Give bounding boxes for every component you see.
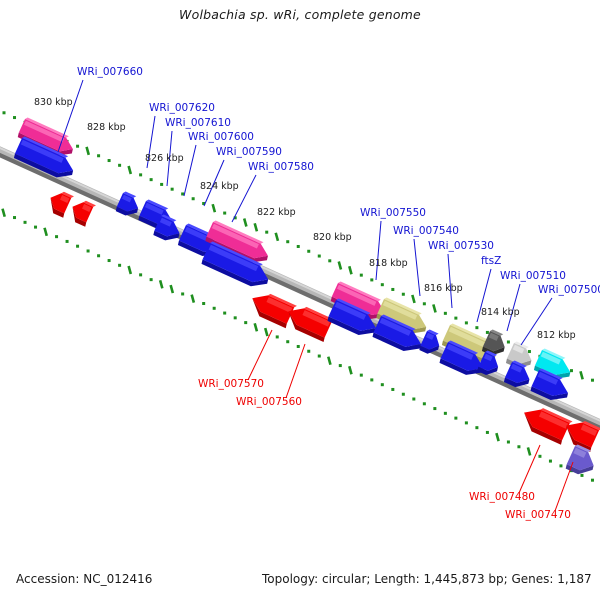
gene-label-WRi_007600[interactable]: WRi_007600 [188,131,254,143]
genome-stats-text: Topology: circular; Length: 1,445,873 bp… [262,572,592,586]
gene-label-WRi_007660[interactable]: WRi_007660 [77,66,143,78]
leader-line-WRi_007530 [448,254,452,308]
gene-glyph-gene-red-829a[interactable] [45,188,74,218]
axis-tick-label-layer: 830 kbp828 kbp826 kbp824 kbp822 kbp820 k… [34,97,576,341]
leader-line-WRi_007660 [58,80,83,152]
leader-line-WRi_007560 [286,344,305,398]
gene-glyph-gene-purple-809[interactable] [565,444,600,479]
axis-tick-label: 814 kbp [481,307,520,318]
leader-line-WRi_007540 [414,239,420,296]
gene-glyph-gene-red-820a[interactable] [247,288,297,329]
axis-tick-label: 830 kbp [34,97,73,108]
axis-tick-label: 824 kbp [200,181,239,192]
leader-line-WRi_007550 [376,221,381,280]
genome-map-canvas: 830 kbp828 kbp826 kbp824 kbp822 kbp820 k… [0,0,600,600]
gene-label-WRi_007480[interactable]: WRi_007480 [469,491,535,503]
gene-label-WRi_007510[interactable]: WRi_007510 [500,270,566,282]
genome-backbone[interactable] [0,144,600,433]
axis-tick-label: 828 kbp [87,122,126,133]
axis-tick-label: 820 kbp [313,232,352,243]
accession-text: Accession: NC_012416 [16,572,152,586]
axis-tick-label: 816 kbp [424,283,463,294]
gene-label-WRi_007500[interactable]: WRi_007500 [538,284,600,296]
axis-tick-label: 818 kbp [369,258,408,269]
axis-tick-label: 822 kbp [257,207,296,218]
axis-tick-label: 826 kbp [145,153,184,164]
leader-line-WRi_007470 [555,462,573,511]
leader-line-WRi_007570 [248,330,272,380]
gene-label-WRi_007570[interactable]: WRi_007570 [198,378,264,390]
gene-label-WRi_007560[interactable]: WRi_007560 [236,396,302,408]
tick-track-upper [0,107,600,394]
gene-label-WRi_007590[interactable]: WRi_007590 [216,146,282,158]
gene-label-ftsZ[interactable]: ftsZ [481,255,501,267]
leader-line-WRi_007600 [184,145,196,196]
tick-track-lower [0,207,600,492]
gene-glyph-gene-red-829b[interactable] [67,197,96,227]
axis-tick-label: 812 kbp [537,330,576,341]
gene-label-WRi_007540[interactable]: WRi_007540 [393,225,459,237]
gene-label-WRi_007470[interactable]: WRi_007470 [505,509,571,521]
gene-label-WRi_007530[interactable]: WRi_007530 [428,240,494,252]
gene-label-WRi_007610[interactable]: WRi_007610 [165,117,231,129]
gene-label-WRi_007620[interactable]: WRi_007620 [149,102,215,114]
gene-label-WRi_007580[interactable]: WRi_007580 [248,161,314,173]
genome-map-viewport: Wolbachia sp. wRi, complete genome 830 k… [0,0,600,600]
gene-label-WRi_007550[interactable]: WRi_007550 [360,207,426,219]
